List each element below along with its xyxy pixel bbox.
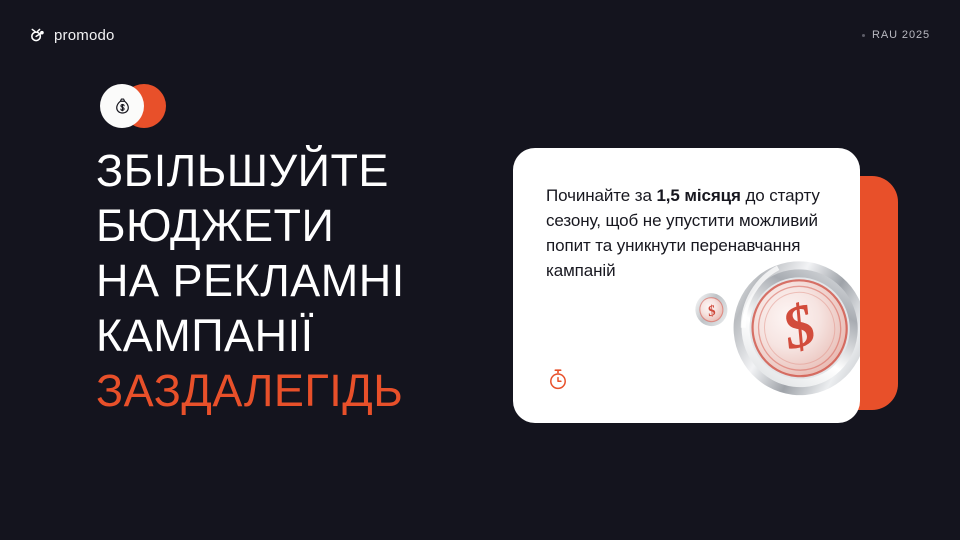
svg-text:$: $ <box>705 303 718 321</box>
event-label: RAU 2025 <box>872 29 930 41</box>
headline-line-3: НА РЕКЛАМНІ <box>96 253 496 308</box>
svg-text:$: $ <box>775 290 823 362</box>
brand-name: promodo <box>54 27 115 44</box>
slide-root: promodo RAU 2025 ЗБІЛЬШУЙТЕ БЮДЖЕТИ НА Р… <box>0 0 960 540</box>
page-title: ЗБІЛЬШУЙТЕ БЮДЖЕТИ НА РЕКЛАМНІ КАМПАНІЇ … <box>96 143 496 418</box>
stopwatch-icon <box>546 367 570 391</box>
card-body-highlight: 1,5 місяця <box>656 186 740 205</box>
badge-white-circle <box>100 84 144 128</box>
headline-line-2: БЮДЖЕТИ <box>96 198 496 253</box>
money-bag-icon <box>113 97 132 116</box>
info-card-stack: Починайте за 1,5 місяця до старту сезону… <box>513 148 898 423</box>
headline-line-5-accent: ЗАЗДАЛЕГІДЬ <box>96 363 496 418</box>
info-card: Починайте за 1,5 місяця до старту сезону… <box>513 148 860 423</box>
card-body-prefix: Починайте за <box>546 186 656 205</box>
bullet-dot-icon <box>862 34 865 37</box>
headline-line-4: КАМПАНІЇ <box>96 308 496 363</box>
promodo-mark-icon <box>30 27 47 44</box>
headline-line-1: ЗБІЛЬШУЙТЕ <box>96 143 496 198</box>
event-tag: RAU 2025 <box>862 29 930 41</box>
card-body-text: Починайте за 1,5 місяця до старту сезону… <box>546 183 826 283</box>
brand-logo[interactable]: promodo <box>30 27 115 44</box>
money-badge <box>100 84 166 128</box>
